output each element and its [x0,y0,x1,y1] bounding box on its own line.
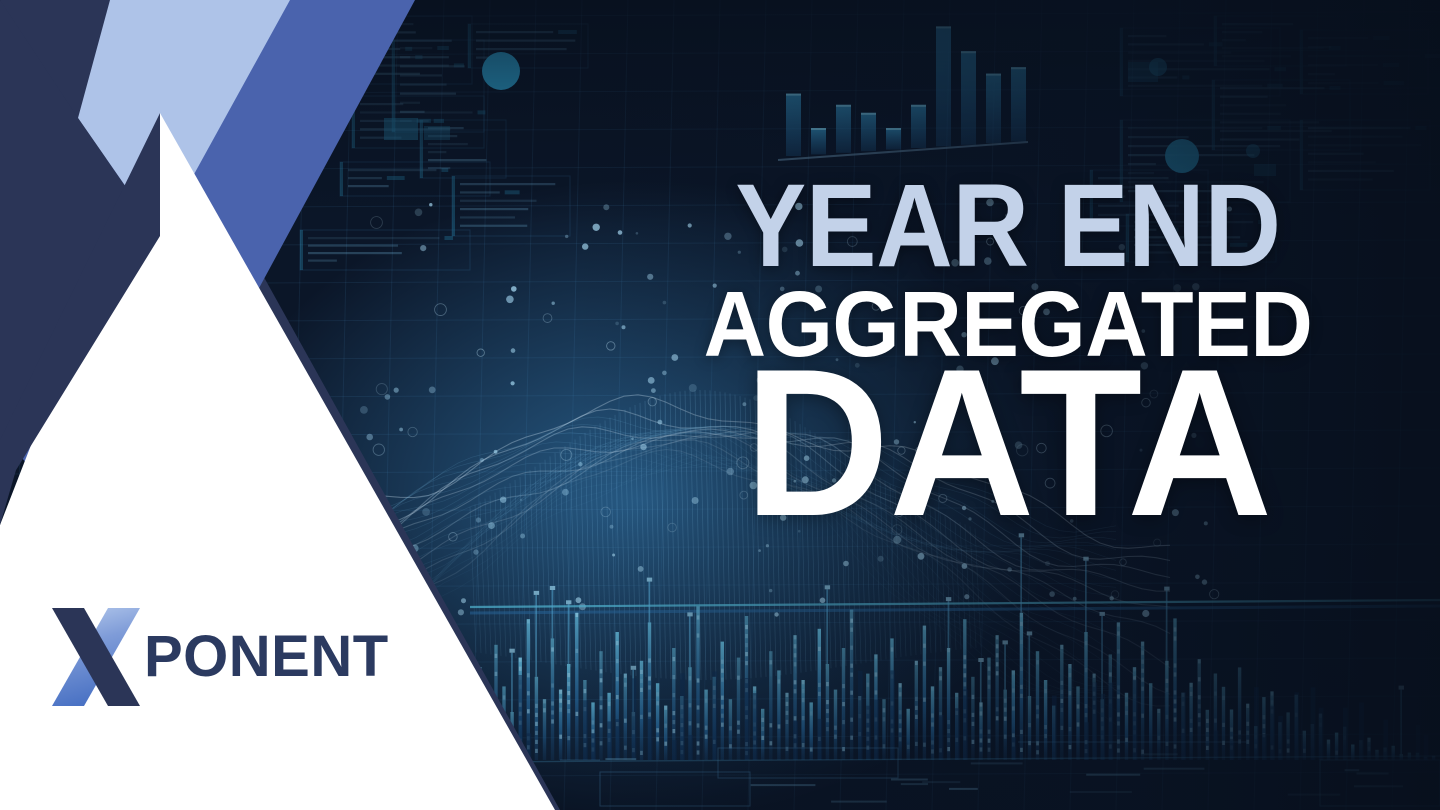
headline-line-3: DATA [662,359,1353,527]
title-card-canvas: YEAR END AGGREGATED DATA PONENT [0,0,1440,810]
xponent-logo: PONENT [52,608,389,706]
xponent-x-mark-icon [52,608,140,706]
headline-block: YEAR END AGGREGATED DATA [648,176,1368,527]
xponent-wordmark: PONENT [144,628,389,686]
headline-line-1: YEAR END [684,176,1332,277]
